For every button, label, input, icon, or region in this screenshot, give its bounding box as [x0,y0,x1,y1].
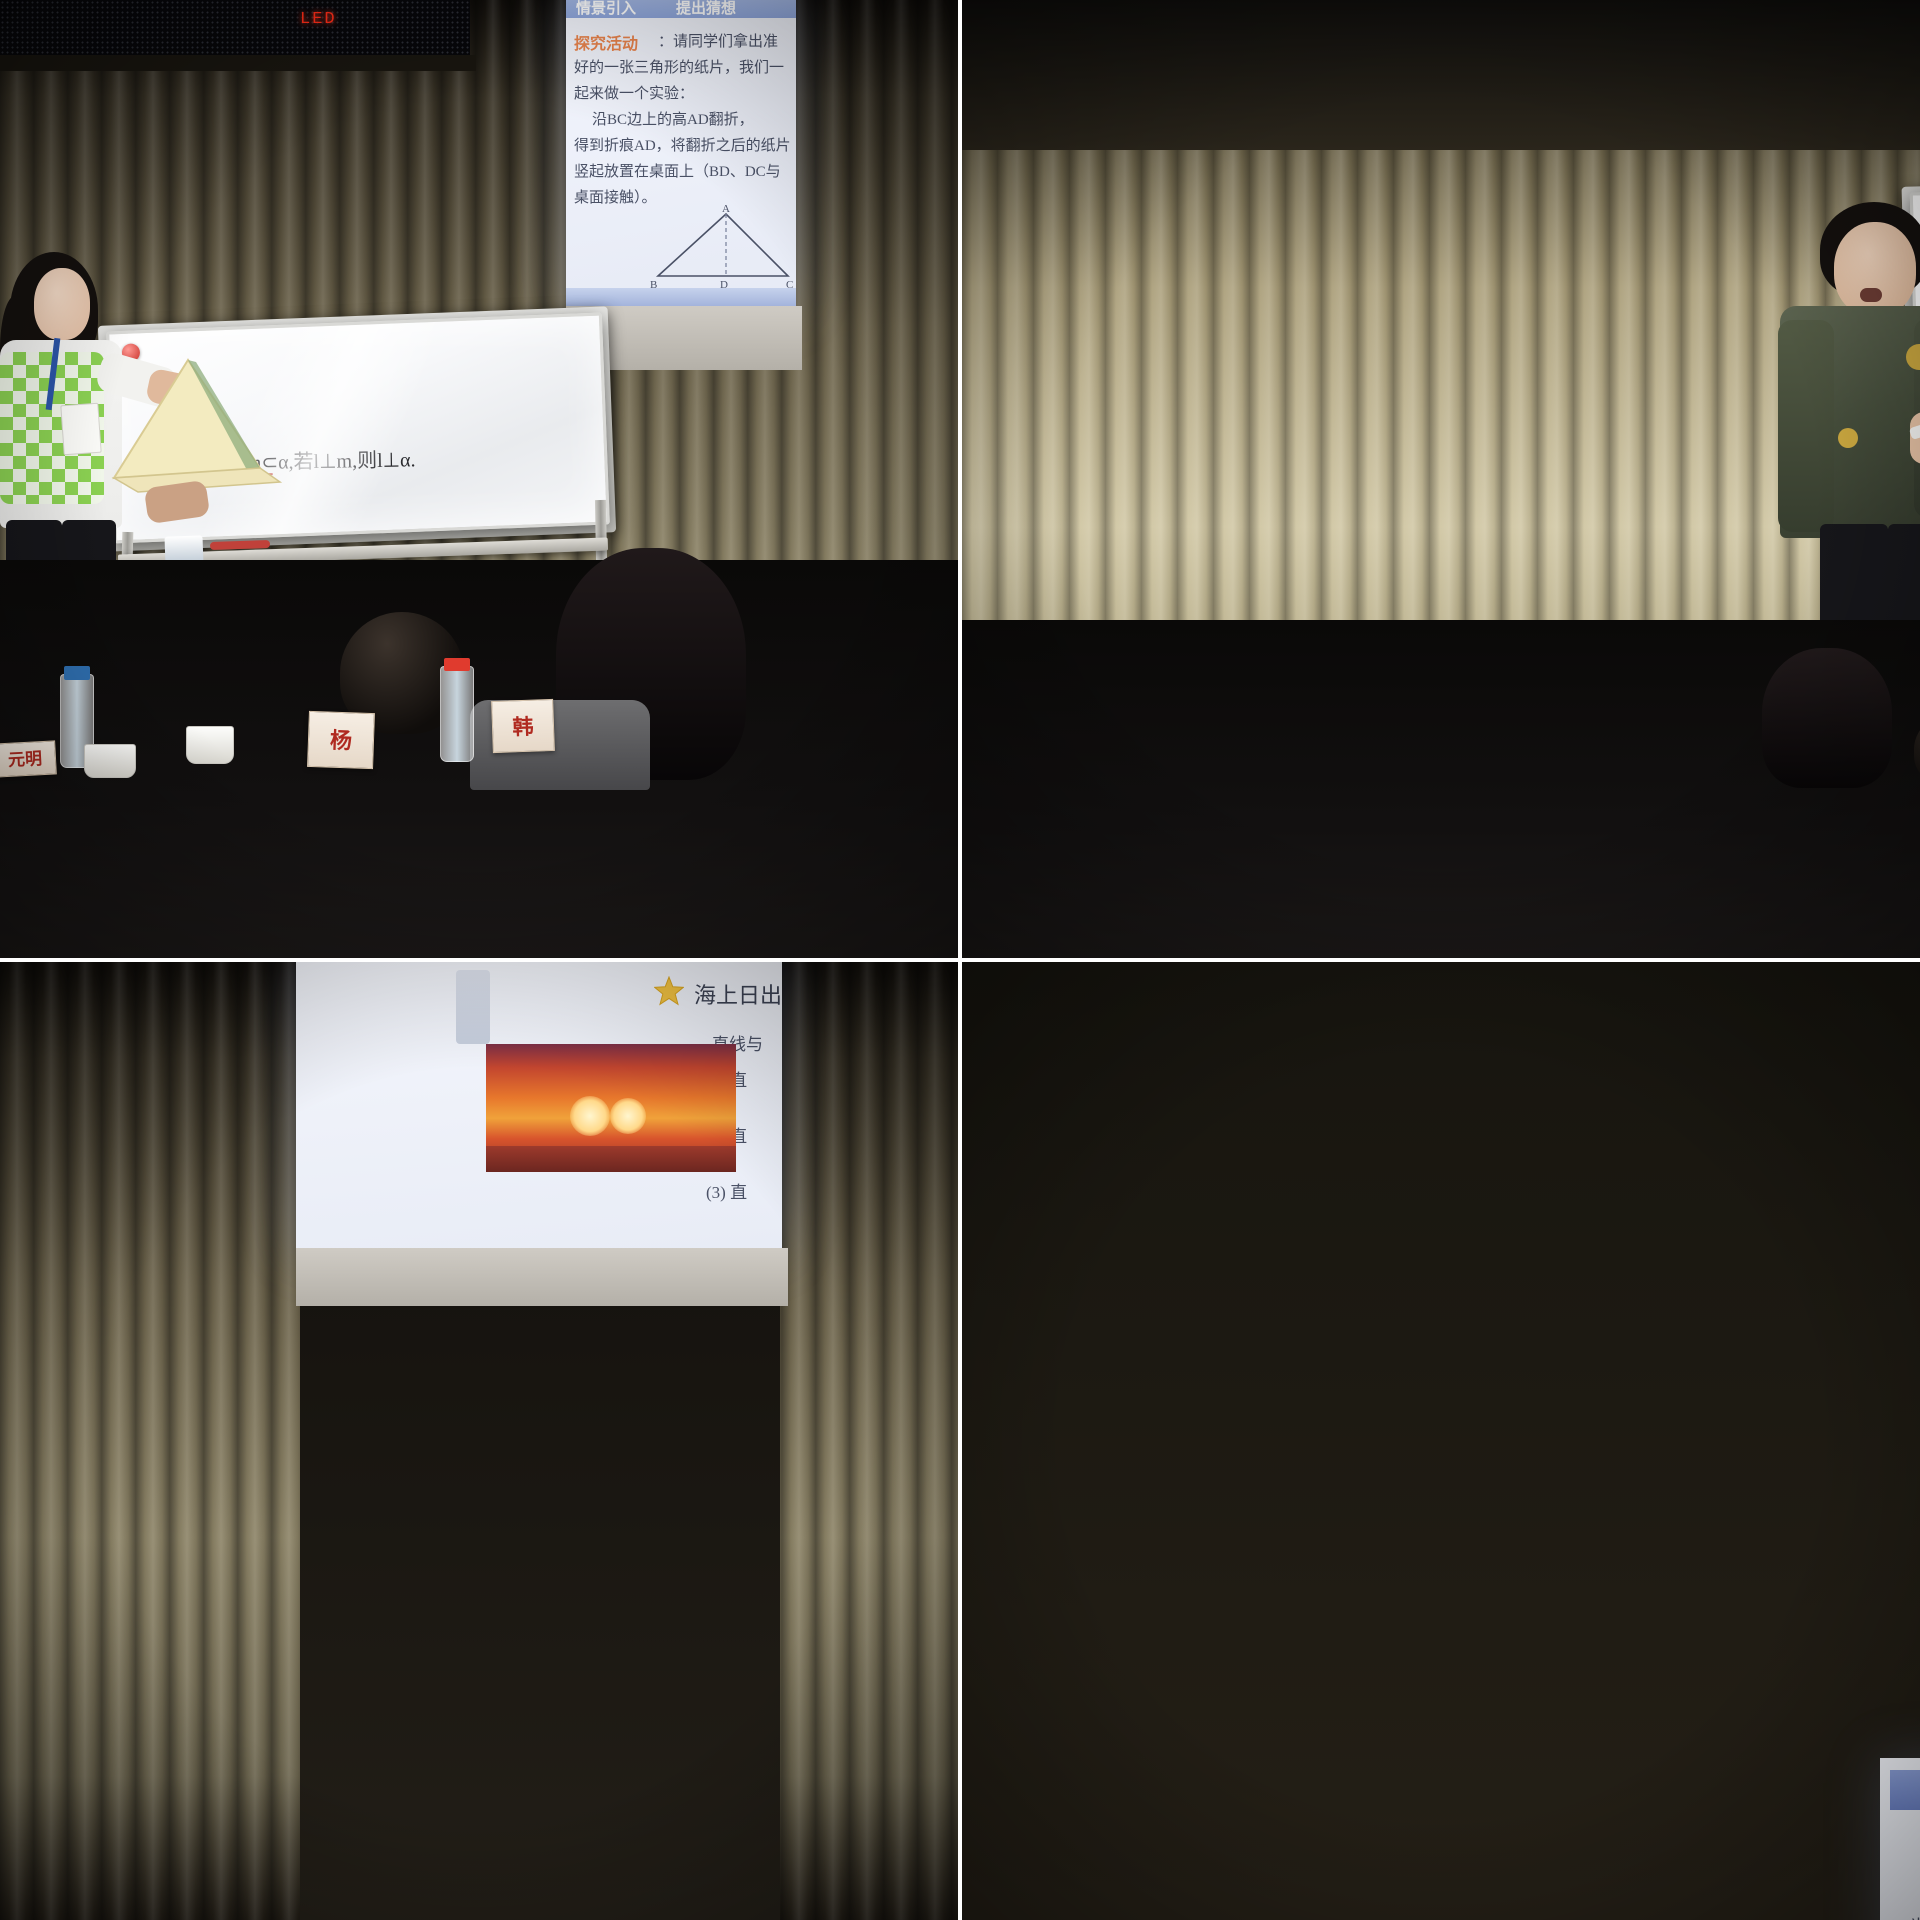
slide-line-3: 沿BC边上的高AD翻折， [592,108,754,129]
led-banner: LED [0,0,470,62]
nameplate-1: 杨 [307,711,375,769]
presenter-head [34,268,90,340]
diagram-label-A: A [722,204,730,215]
presenter-tr-arm-l [1778,320,1834,532]
table-behavior-left-0: 当k > 0时，函数值y在R上随自变量x的增大而增大； [1910,1914,1920,1920]
panel-top-right: 用 A AnB n(Y) n(X) = [962,0,1920,958]
slide-line-1: 好的一张三角形的纸片，我们一 [574,56,784,77]
audience-head-tr-left [1762,648,1892,788]
slide-tab-right: 提出猜想 [676,0,736,18]
tea-cup [186,726,234,764]
triangle-diagram: A B D C [650,204,796,290]
slide-tab-left: 情景引入 [576,0,636,18]
folded-paper-triangle [110,356,340,496]
sea-band [486,1146,736,1172]
slide-highlight-word: 探究活动 [574,30,638,54]
sunrise-image [486,1044,736,1172]
star-icon [654,976,684,1006]
water-bottle-tl-2 [440,666,474,762]
slide-tab-br: 问题引入 [1890,1770,1920,1810]
slide-line-6: 桌面接触）。 [574,186,657,207]
panel-top-left: LED 情景引入 提出猜想 探究活动 ：请同学们拿出准 好的一张三角形的纸片，我… [0,0,958,958]
slide-line-5: 竖起放置在桌面上（BD、DC与 [574,160,781,181]
slide-title-bl: 海上日出 [694,978,782,1010]
presenter-tr-mouth [1860,288,1882,302]
sun-icon [570,1096,610,1136]
led-banner-text: LED [300,10,337,29]
slide-decor-strip [456,970,490,1044]
upper-dark-band [962,0,1920,150]
room-bg-br [962,962,1920,1920]
slide-screen-bl: 海上日出 直线与 (1) 直 (2) 直 (3) 直 [296,962,782,1252]
paper-cup [84,744,136,778]
photo-collage-grid: LED 情景引入 提出猜想 探究活动 ：请同学们拿出准 好的一张三角形的纸片，我… [0,0,1920,1920]
panel-bottom-right: 问题引入 湖北 Hubei 一次函数 反比例函数 y = kx + b（k、b是… [962,962,1920,1920]
slide-screen-br: 问题引入 湖北 Hubei 一次函数 反比例函数 y = kx + b（k、b是… [1880,1758,1920,1920]
id-badge [60,403,101,456]
led-banner-shadow [0,55,476,71]
screen-mount-wall-bl [296,1248,788,1306]
nameplate-2: 韩 [491,699,555,753]
slide-right-line-3: (3) 直 [706,1178,747,1203]
panel-bottom-left: 海上日出 直线与 (1) 直 (2) 直 (3) 直 直线与圆的位置关系 相交 … [0,962,958,1920]
slide-screen-tl: 情景引入 提出猜想 探究活动 ：请同学们拿出准 好的一张三角形的纸片，我们一 起… [566,0,796,310]
slide-line-0: ：请同学们拿出准 [658,30,778,51]
bottle-cap-tl-2 [444,658,470,671]
slide-line-4: 得到折痕AD，将翻折之后的纸片 [574,134,791,155]
nameplate-0: 元明 [0,740,57,777]
bottle-cap-tl [64,666,90,680]
slide-line-2: 起来做一个实验： [574,82,694,103]
jacket-logo-icon-2 [1838,428,1858,448]
sun-reflection-icon [610,1098,646,1134]
